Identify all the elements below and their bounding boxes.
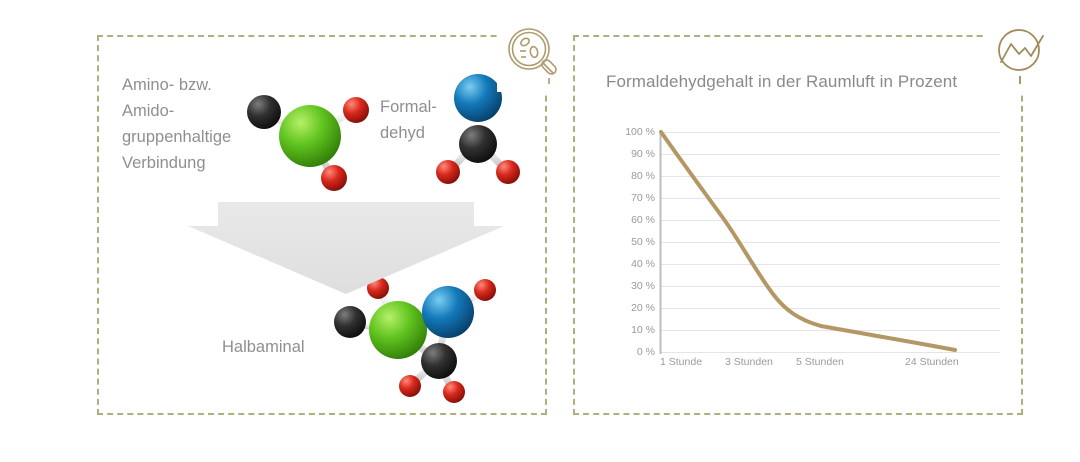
y-tick-label: 10 % xyxy=(595,324,655,336)
data-line-formaldehyd xyxy=(661,132,955,350)
x-tick-label: 3 Stunden xyxy=(725,356,773,368)
down-arrow-icon xyxy=(188,198,504,296)
magnifier-icon xyxy=(497,18,571,92)
y-tick-label: 0 % xyxy=(595,346,655,358)
x-tick-label: 5 Stunden xyxy=(796,356,844,368)
trend-chart-icon xyxy=(985,18,1059,92)
atom-oxygen xyxy=(443,381,465,403)
x-tick-label: 1 Stunde xyxy=(660,356,702,368)
atom-carbon xyxy=(334,306,366,338)
y-tick-label: 70 % xyxy=(595,192,655,204)
plot-svg xyxy=(655,118,1000,364)
label-hemiaminal: Halbaminal xyxy=(222,338,305,357)
y-tick-label: 40 % xyxy=(595,258,655,270)
chart-area: 100 % 90 % 80 % 70 % 60 % 50 % 40 % 30 %… xyxy=(600,118,1000,378)
y-tick-label: 30 % xyxy=(595,280,655,292)
atom-nitrogen xyxy=(369,301,427,359)
y-tick-label: 60 % xyxy=(595,214,655,226)
atom-hydrogen xyxy=(436,160,460,184)
atom-oxygen xyxy=(321,165,347,191)
atom-nitrogen xyxy=(279,105,341,167)
amino-compound-molecule xyxy=(236,78,376,198)
atom-hydrogen xyxy=(496,160,520,184)
atom-oxygen xyxy=(343,97,369,123)
x-tick-label: 24 Stunden xyxy=(905,356,959,368)
atom-carbon xyxy=(421,343,457,379)
gridlines xyxy=(660,133,1000,353)
atom-oxygen xyxy=(454,74,502,122)
y-tick-label: 80 % xyxy=(595,170,655,182)
y-tick-label: 100 % xyxy=(595,126,655,138)
atom-oxygen xyxy=(399,375,421,397)
atom-carbon xyxy=(459,125,497,163)
chart-title: Formaldehydgehalt in der Raumluft in Pro… xyxy=(606,72,957,92)
y-tick-label: 20 % xyxy=(595,302,655,314)
y-tick-label: 90 % xyxy=(595,148,655,160)
y-tick-label: 50 % xyxy=(595,236,655,248)
atom-carbon xyxy=(247,95,281,129)
